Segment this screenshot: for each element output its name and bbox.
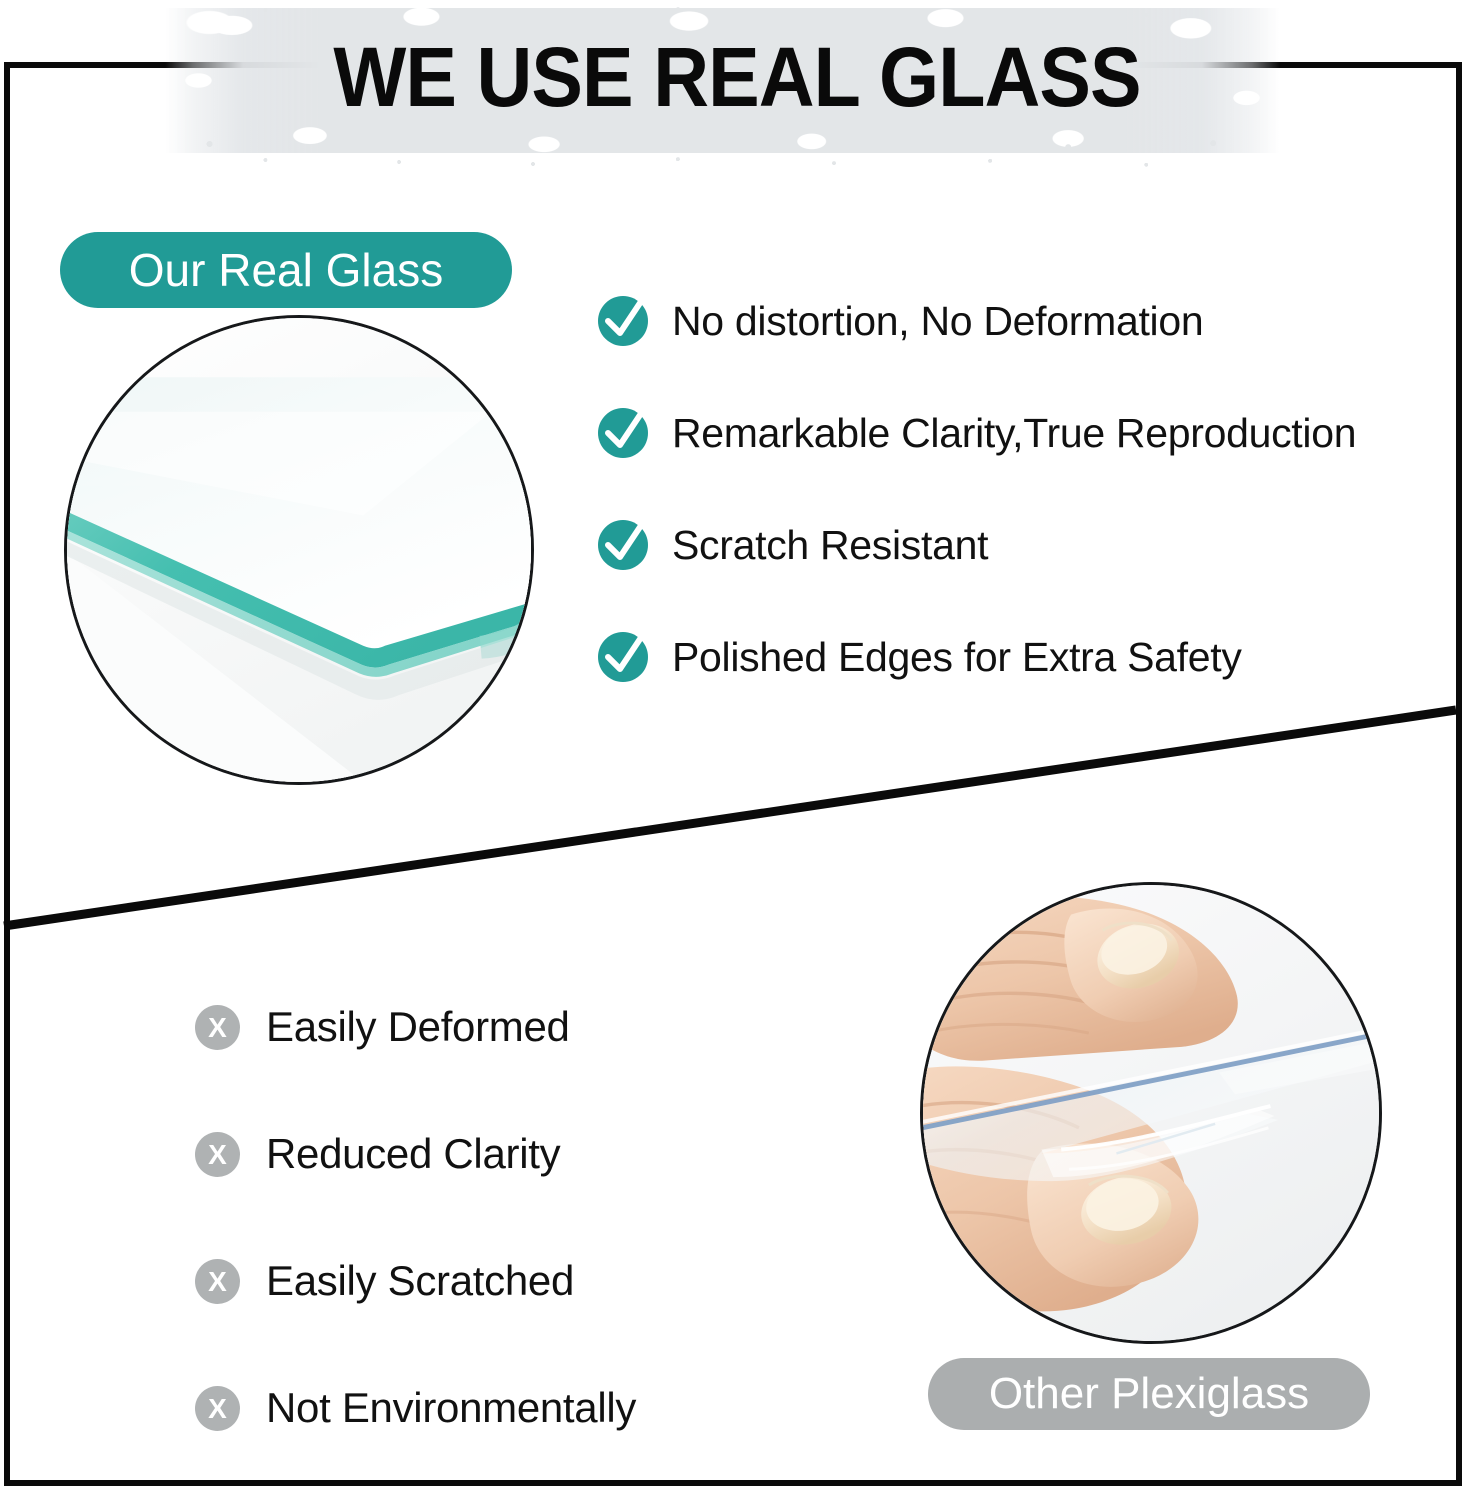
list-item: X Easily Deformed bbox=[195, 998, 636, 1056]
badge-our-real-glass-label: Our Real Glass bbox=[129, 243, 443, 297]
badge-our-real-glass: Our Real Glass bbox=[60, 232, 512, 308]
x-circle-icon: X bbox=[195, 1005, 240, 1050]
check-circle-icon bbox=[598, 296, 648, 346]
list-item-label: Remarkable Clarity,True Reproduction bbox=[672, 410, 1356, 457]
list-item-label: Easily Deformed bbox=[266, 1003, 570, 1051]
list-item-label: Not Environmentally bbox=[266, 1384, 636, 1432]
list-item: X Not Environmentally bbox=[195, 1379, 636, 1437]
list-item: Scratch Resistant bbox=[598, 516, 1356, 574]
check-circle-icon bbox=[598, 520, 648, 570]
list-item: X Easily Scratched bbox=[195, 1252, 636, 1310]
check-circle-icon bbox=[598, 632, 648, 682]
list-item: X Reduced Clarity bbox=[195, 1125, 636, 1183]
list-item: No distortion, No Deformation bbox=[598, 292, 1356, 350]
real-glass-illustration bbox=[67, 318, 531, 782]
list-item-label: Polished Edges for Extra Safety bbox=[672, 634, 1242, 681]
x-circle-icon: X bbox=[195, 1132, 240, 1177]
list-item: Polished Edges for Extra Safety bbox=[598, 628, 1356, 686]
badge-other-plexiglass-label: Other Plexiglass bbox=[989, 1369, 1309, 1419]
pros-list: No distortion, No Deformation Remarkable… bbox=[598, 292, 1356, 686]
infographic-canvas: WE USE REAL GLASS Our Real Glass bbox=[0, 0, 1474, 1500]
list-item-label: No distortion, No Deformation bbox=[672, 298, 1203, 345]
real-glass-photo bbox=[64, 315, 534, 785]
plexiglass-photo bbox=[920, 882, 1382, 1344]
check-circle-icon bbox=[598, 408, 648, 458]
page-title: WE USE REAL GLASS bbox=[59, 8, 1415, 146]
cons-list: X Easily Deformed X Reduced Clarity X Ea… bbox=[195, 998, 636, 1437]
x-circle-icon: X bbox=[195, 1259, 240, 1304]
list-item: Remarkable Clarity,True Reproduction bbox=[598, 404, 1356, 462]
badge-other-plexiglass: Other Plexiglass bbox=[928, 1358, 1370, 1430]
list-item-label: Reduced Clarity bbox=[266, 1130, 560, 1178]
list-item-label: Scratch Resistant bbox=[672, 522, 988, 569]
x-circle-icon: X bbox=[195, 1386, 240, 1431]
plexiglass-illustration bbox=[923, 885, 1379, 1341]
list-item-label: Easily Scratched bbox=[266, 1257, 574, 1305]
